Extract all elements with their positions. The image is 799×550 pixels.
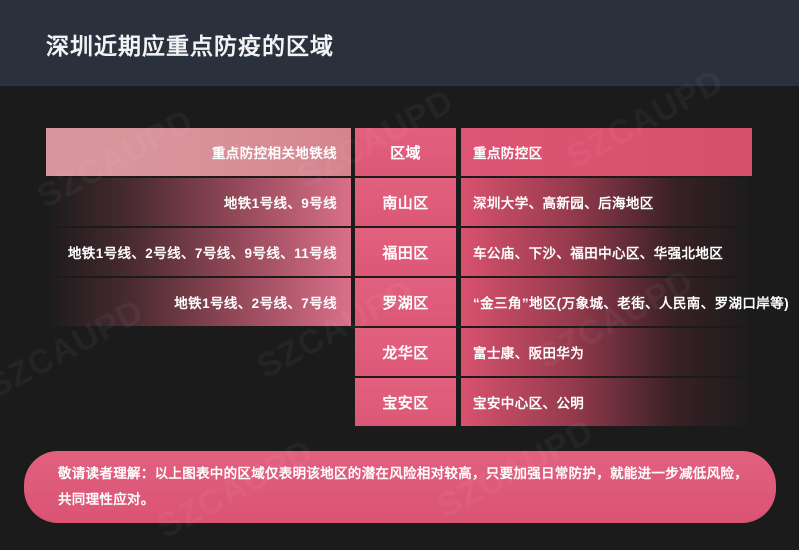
table-row: 地铁1号线、2号线、7号线 罗湖区 “金三角”地区(万象城、老街、人民南、罗湖口… bbox=[46, 278, 752, 326]
title-band: 深圳近期应重点防疫的区域 bbox=[0, 0, 799, 86]
cell-key-zones: 富士康、阪田华为 bbox=[461, 328, 752, 376]
table-row: 宝安区 宝安中心区、公明 bbox=[46, 378, 752, 426]
cell-metro-lines: 地铁1号线、2号线、7号线、9号线、11号线 bbox=[46, 228, 351, 276]
cell-metro-lines: 地铁1号线、9号线 bbox=[46, 178, 351, 226]
cell-district: 罗湖区 bbox=[355, 278, 456, 326]
table-row: 地铁1号线、2号线、7号线、9号线、11号线 福田区 车公庙、下沙、福田中心区、… bbox=[46, 228, 752, 276]
cell-key-zones: 车公庙、下沙、福田中心区、华强北地区 bbox=[461, 228, 752, 276]
cell-district: 南山区 bbox=[355, 178, 456, 226]
cell-key-zones: 深圳大学、高新园、后海地区 bbox=[461, 178, 752, 226]
disclaimer-text: 敬请读者理解：以上图表中的区域仅表明该地区的潜在风险相对较高，只要加强日常防护，… bbox=[58, 461, 748, 513]
column-header-metro-lines: 重点防控相关地铁线 bbox=[46, 128, 351, 176]
cell-key-zones: “金三角”地区(万象城、老街、人民南、罗湖口岸等) bbox=[461, 278, 752, 326]
column-header-key-zones: 重点防控区 bbox=[461, 128, 752, 176]
cell-district: 龙华区 bbox=[355, 328, 456, 376]
table-row: 地铁1号线、9号线 南山区 深圳大学、高新园、后海地区 bbox=[46, 178, 752, 226]
cell-metro-lines bbox=[46, 378, 351, 426]
page-title: 深圳近期应重点防疫的区域 bbox=[46, 27, 334, 61]
risk-area-table: 重点防控相关地铁线 区域 重点防控区 地铁1号线、9号线 南山区 深圳大学、高新… bbox=[46, 128, 752, 428]
cell-key-zones: 宝安中心区、公明 bbox=[461, 378, 752, 426]
cell-metro-lines: 地铁1号线、2号线、7号线 bbox=[46, 278, 351, 326]
column-header-district: 区域 bbox=[355, 128, 456, 176]
disclaimer-banner: 敬请读者理解：以上图表中的区域仅表明该地区的潜在风险相对较高，只要加强日常防护，… bbox=[24, 451, 776, 523]
cell-district: 宝安区 bbox=[355, 378, 456, 426]
cell-district: 福田区 bbox=[355, 228, 456, 276]
cell-metro-lines bbox=[46, 328, 351, 376]
table-row: 龙华区 富士康、阪田华为 bbox=[46, 328, 752, 376]
table-header-row: 重点防控相关地铁线 区域 重点防控区 bbox=[46, 128, 752, 176]
